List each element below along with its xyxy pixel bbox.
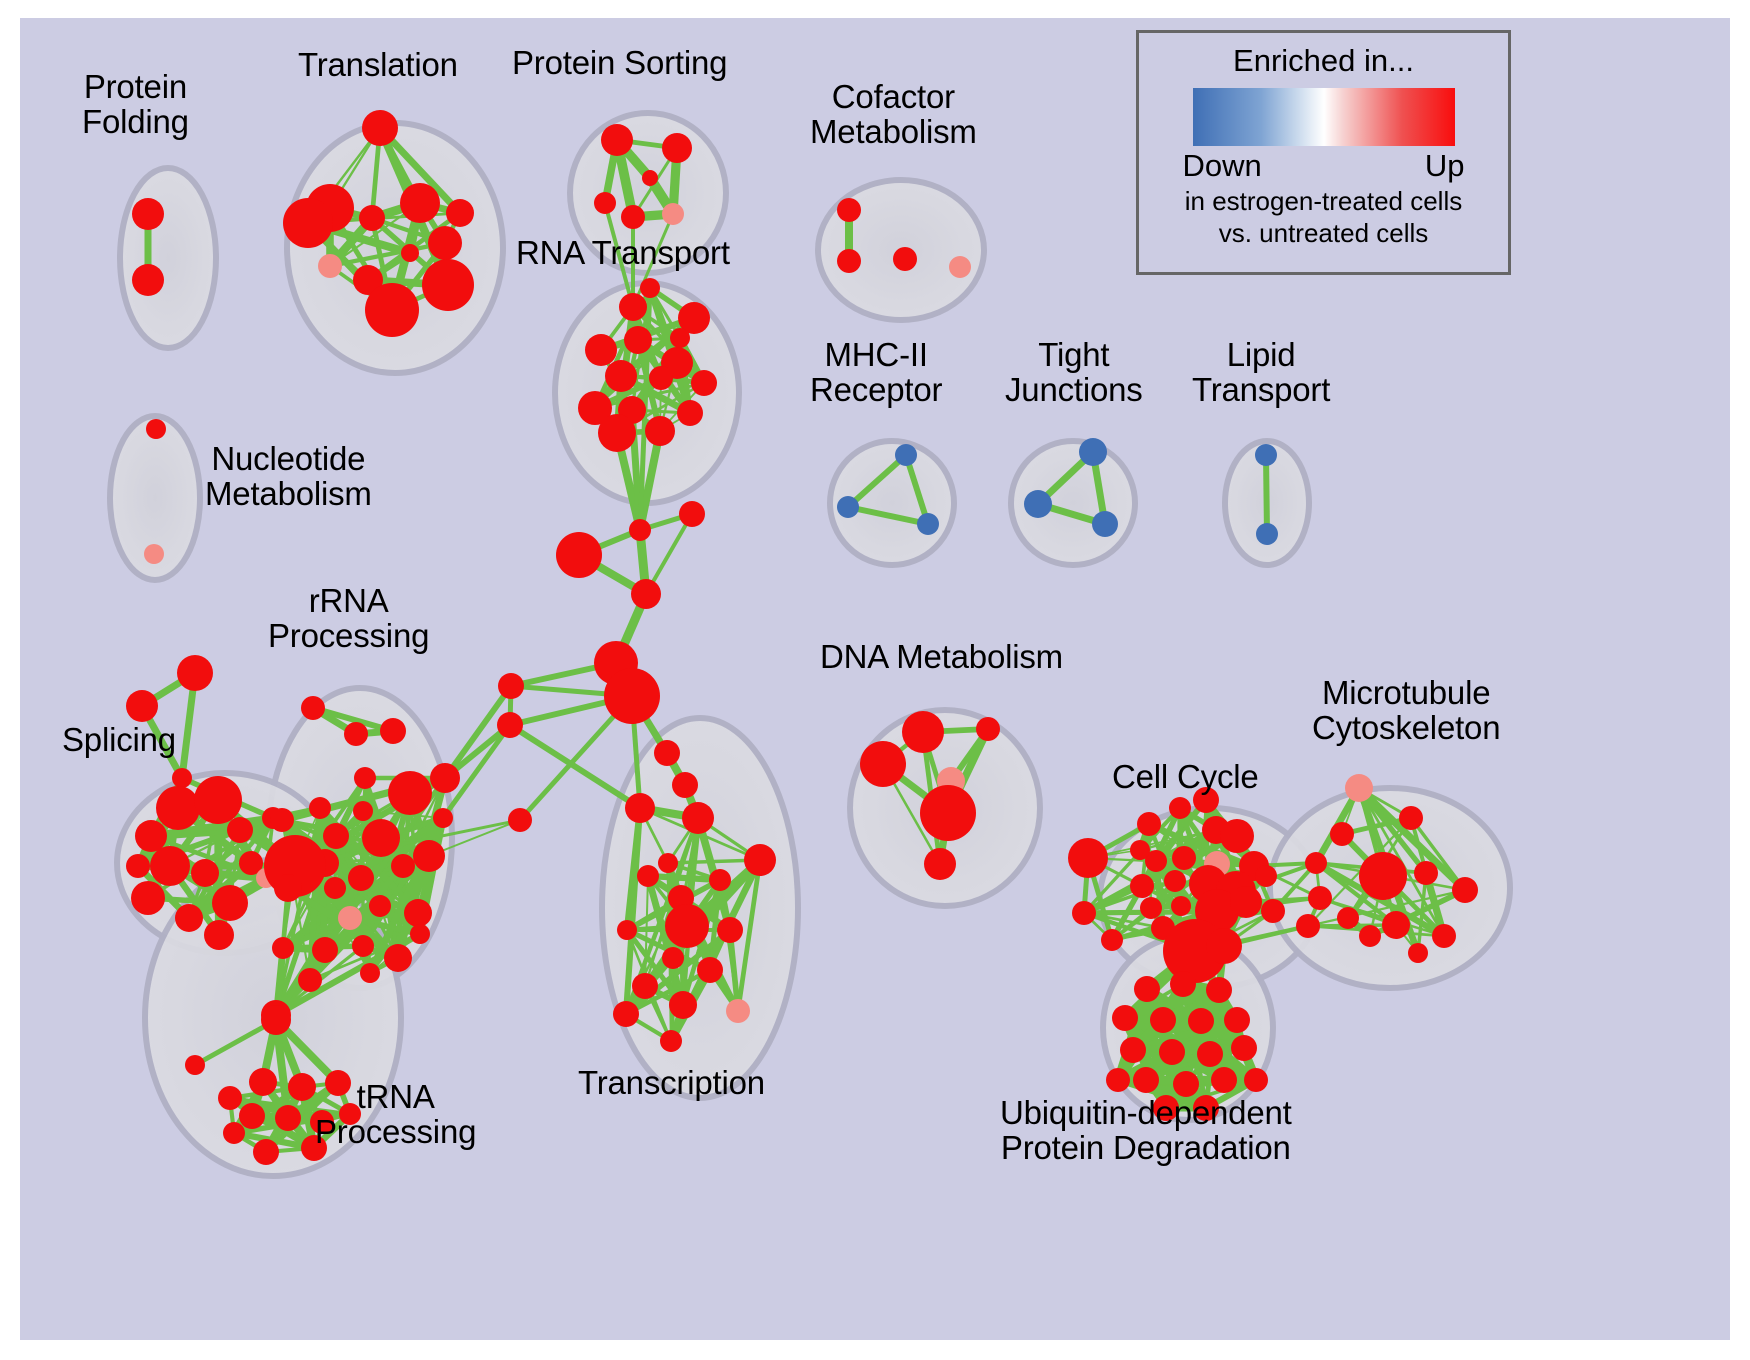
network-node[interactable]	[1399, 806, 1423, 830]
network-node[interactable]	[556, 532, 602, 578]
network-node[interactable]	[1130, 840, 1150, 860]
network-node[interactable]	[365, 283, 419, 337]
network-node[interactable]	[422, 259, 474, 311]
network-node[interactable]	[1150, 1007, 1176, 1033]
network-node[interactable]	[344, 722, 368, 746]
network-node[interactable]	[348, 865, 374, 891]
network-node[interactable]	[239, 1103, 265, 1129]
network-node[interactable]	[976, 717, 1000, 741]
figure-canvas: Protein Folding Translation Protein Sort…	[0, 0, 1750, 1360]
network-edge	[510, 725, 640, 808]
network-node[interactable]	[920, 785, 976, 841]
network-node[interactable]	[624, 326, 652, 354]
legend-caption-line2: vs. untreated cells	[1139, 219, 1508, 248]
network-node[interactable]	[433, 808, 453, 828]
network-node[interactable]	[642, 170, 658, 186]
network-node[interactable]	[362, 819, 400, 857]
network-node[interactable]	[1261, 899, 1285, 923]
network-node[interactable]	[413, 840, 445, 872]
network-node[interactable]	[893, 247, 917, 271]
network-node[interactable]	[1432, 924, 1456, 948]
network-node[interactable]	[274, 874, 302, 902]
network-node[interactable]	[204, 920, 234, 950]
network-node[interactable]	[131, 881, 165, 915]
network-node[interactable]	[126, 854, 150, 878]
network-node[interactable]	[1408, 943, 1428, 963]
network-node[interactable]	[1130, 874, 1154, 898]
network-node[interactable]	[917, 513, 939, 535]
network-node[interactable]	[272, 937, 294, 959]
network-node[interactable]	[324, 877, 346, 899]
network-node[interactable]	[709, 869, 731, 891]
network-node[interactable]	[585, 334, 617, 366]
network-node[interactable]	[360, 963, 380, 983]
network-node[interactable]	[1092, 511, 1118, 537]
legend-high-label: Up	[1425, 148, 1465, 184]
network-node[interactable]	[132, 264, 164, 296]
cluster-label-translation: Translation	[298, 48, 458, 83]
cluster-label-rrna-processing: rRNA Processing	[268, 584, 429, 654]
network-node[interactable]	[924, 848, 956, 880]
network-node[interactable]	[670, 328, 690, 348]
network-node[interactable]	[150, 846, 190, 886]
network-node[interactable]	[227, 817, 253, 843]
network-node[interactable]	[1255, 444, 1277, 466]
network-node[interactable]	[601, 124, 633, 156]
network-node[interactable]	[1172, 846, 1196, 870]
legend-title: Enriched in...	[1139, 43, 1508, 79]
network-node[interactable]	[352, 935, 374, 957]
network-node[interactable]	[288, 1073, 316, 1101]
network-node[interactable]	[249, 1068, 277, 1096]
network-node[interactable]	[640, 278, 660, 298]
network-node[interactable]	[1256, 523, 1278, 545]
network-node[interactable]	[665, 904, 709, 948]
cluster-label-splicing: Splicing	[62, 723, 176, 758]
network-node[interactable]	[662, 947, 684, 969]
network-node[interactable]	[253, 1139, 279, 1165]
network-node[interactable]	[1452, 877, 1478, 903]
network-node[interactable]	[1134, 976, 1160, 1002]
network-node[interactable]	[677, 400, 703, 426]
network-node[interactable]	[594, 192, 616, 214]
network-node[interactable]	[156, 786, 200, 830]
network-node[interactable]	[191, 859, 219, 887]
cluster-label-transcription: Transcription	[578, 1066, 765, 1101]
cluster-label-tight-junctions: Tight Junctions	[1005, 338, 1143, 408]
network-node[interactable]	[135, 820, 167, 852]
cluster-label-ubiquitin-protein-degradation: Ubiquitin-dependent Protein Degradation	[1000, 1096, 1292, 1166]
network-node[interactable]	[1330, 822, 1354, 846]
network-node[interactable]	[353, 801, 373, 821]
network-node[interactable]	[1345, 774, 1373, 802]
network-node[interactable]	[619, 293, 647, 321]
network-node[interactable]	[1120, 1037, 1146, 1063]
network-node[interactable]	[359, 205, 385, 231]
cluster-label-lipid-transport: Lipid Transport	[1192, 338, 1330, 408]
network-node[interactable]	[369, 895, 391, 917]
cluster-label-dna-metabolism: DNA Metabolism	[820, 640, 1063, 675]
network-node[interactable]	[629, 519, 651, 541]
network-node[interactable]	[895, 444, 917, 466]
network-node[interactable]	[1414, 861, 1438, 885]
network-node[interactable]	[261, 1005, 291, 1035]
network-node[interactable]	[1101, 929, 1123, 951]
network-node[interactable]	[218, 1086, 242, 1110]
network-node[interactable]	[132, 198, 164, 230]
network-node[interactable]	[625, 793, 655, 823]
network-node[interactable]	[1170, 971, 1196, 997]
network-node[interactable]	[1072, 901, 1096, 925]
network-node[interactable]	[498, 673, 524, 699]
network-node[interactable]	[338, 906, 362, 930]
network-node[interactable]	[860, 741, 906, 787]
cluster-label-microtubule-cytoskeleton: Microtubule Cytoskeleton	[1312, 676, 1500, 746]
network-node[interactable]	[1133, 1067, 1159, 1093]
network-node[interactable]	[1164, 870, 1186, 892]
network-node[interactable]	[446, 199, 474, 227]
cluster-label-cofactor-metabolism: Cofactor Metabolism	[810, 80, 977, 150]
network-node[interactable]	[1106, 1068, 1130, 1092]
network-node[interactable]	[658, 853, 678, 873]
network-node[interactable]	[404, 899, 432, 927]
cluster-hull-protein-folding	[120, 168, 216, 348]
network-node[interactable]	[362, 110, 398, 146]
network-node[interactable]	[717, 917, 743, 943]
network-node[interactable]	[1140, 897, 1162, 919]
cluster-label-protein-folding: Protein Folding	[82, 70, 189, 140]
network-node[interactable]	[1220, 819, 1254, 853]
network-node[interactable]	[1359, 925, 1381, 947]
cluster-label-protein-sorting: Protein Sorting	[512, 46, 727, 81]
network-node[interactable]	[682, 802, 714, 834]
network-node[interactable]	[270, 808, 294, 832]
cluster-label-cell-cycle: Cell Cycle	[1112, 760, 1259, 795]
legend-endpoints: Down Up	[1183, 148, 1465, 184]
network-node[interactable]	[175, 904, 203, 932]
network-plot-area: Protein Folding Translation Protein Sort…	[20, 18, 1730, 1340]
network-node[interactable]	[318, 254, 342, 278]
network-node[interactable]	[508, 808, 532, 832]
cluster-label-trna-processing: tRNA Processing	[315, 1080, 476, 1150]
network-node[interactable]	[185, 1055, 205, 1075]
network-node[interactable]	[410, 924, 430, 944]
network-node[interactable]	[354, 767, 376, 789]
network-node[interactable]	[172, 768, 192, 788]
network-node[interactable]	[1296, 914, 1320, 938]
network-node[interactable]	[949, 256, 971, 278]
network-node[interactable]	[617, 920, 637, 940]
network-node[interactable]	[632, 973, 658, 999]
network-node[interactable]	[400, 183, 440, 223]
cluster-label-mhc-ii-receptor: MHC-II Receptor	[810, 338, 942, 408]
network-node[interactable]	[428, 226, 462, 260]
network-node[interactable]	[649, 366, 673, 390]
network-node[interactable]	[660, 1030, 682, 1052]
network-node[interactable]	[1188, 1008, 1214, 1034]
network-node[interactable]	[1197, 1041, 1223, 1067]
network-node[interactable]	[430, 763, 460, 793]
legend-caption-line1: in estrogen-treated cells	[1139, 187, 1508, 216]
network-node[interactable]	[1382, 911, 1410, 939]
network-node[interactable]	[126, 690, 158, 722]
network-node[interactable]	[275, 1105, 301, 1131]
network-node[interactable]	[194, 776, 242, 824]
network-node[interactable]	[1112, 1005, 1138, 1031]
network-node[interactable]	[283, 198, 333, 248]
network-node[interactable]	[380, 718, 406, 744]
network-node[interactable]	[401, 244, 419, 262]
network-node[interactable]	[605, 360, 637, 392]
network-node[interactable]	[312, 937, 338, 963]
network-node[interactable]	[837, 249, 861, 273]
network-node[interactable]	[1206, 977, 1232, 1003]
network-node[interactable]	[1337, 907, 1359, 929]
network-node[interactable]	[598, 414, 636, 452]
network-node[interactable]	[662, 203, 684, 225]
legend-box: Enriched in... Down Up in estrogen-treat…	[1136, 30, 1511, 275]
network-node[interactable]	[146, 419, 166, 439]
cluster-label-rna-transport: RNA Transport	[516, 236, 730, 271]
network-node[interactable]	[1206, 928, 1242, 964]
network-node[interactable]	[621, 205, 645, 229]
network-node[interactable]	[662, 133, 692, 163]
network-node[interactable]	[837, 496, 859, 518]
network-node[interactable]	[388, 771, 432, 815]
network-node[interactable]	[212, 885, 248, 921]
network-node[interactable]	[384, 944, 412, 972]
network-node[interactable]	[391, 854, 415, 878]
network-node[interactable]	[298, 968, 322, 992]
network-edge	[1266, 455, 1267, 534]
network-node[interactable]	[1230, 886, 1262, 918]
network-node[interactable]	[309, 797, 331, 819]
network-node[interactable]	[144, 544, 164, 564]
network-node[interactable]	[497, 712, 523, 738]
network-node[interactable]	[1231, 1035, 1257, 1061]
network-node[interactable]	[837, 198, 861, 222]
network-node[interactable]	[1159, 1039, 1185, 1065]
legend-low-label: Down	[1183, 148, 1262, 184]
network-node[interactable]	[645, 416, 675, 446]
network-node[interactable]	[672, 772, 698, 798]
network-node[interactable]	[654, 740, 680, 766]
network-node[interactable]	[1255, 865, 1277, 887]
network-node[interactable]	[1068, 838, 1108, 878]
network-node[interactable]	[1308, 886, 1332, 910]
network-node[interactable]	[1079, 438, 1107, 466]
network-node[interactable]	[604, 668, 660, 724]
legend-colorbar	[1193, 88, 1455, 146]
network-node[interactable]	[1211, 1067, 1237, 1093]
network-node[interactable]	[902, 711, 944, 753]
network-node[interactable]	[1024, 490, 1052, 518]
network-node[interactable]	[1171, 896, 1191, 916]
network-node[interactable]	[691, 370, 717, 396]
network-node[interactable]	[1169, 797, 1191, 819]
network-node[interactable]	[637, 865, 659, 887]
network-node[interactable]	[613, 1001, 639, 1027]
network-node[interactable]	[1305, 852, 1327, 874]
cluster-label-nucleotide-metabolism: Nucleotide Metabolism	[205, 442, 372, 512]
network-node[interactable]	[726, 999, 750, 1023]
network-node[interactable]	[669, 991, 697, 1019]
network-node[interactable]	[744, 844, 776, 876]
network-node[interactable]	[1224, 1007, 1250, 1033]
network-node[interactable]	[301, 696, 325, 720]
network-node[interactable]	[697, 957, 723, 983]
network-node[interactable]	[679, 501, 705, 527]
network-node[interactable]	[223, 1122, 245, 1144]
network-node[interactable]	[1359, 852, 1407, 900]
network-node[interactable]	[1244, 1068, 1268, 1092]
network-node[interactable]	[631, 579, 661, 609]
network-node[interactable]	[177, 655, 213, 691]
network-node[interactable]	[323, 823, 349, 849]
network-node[interactable]	[1137, 812, 1161, 836]
